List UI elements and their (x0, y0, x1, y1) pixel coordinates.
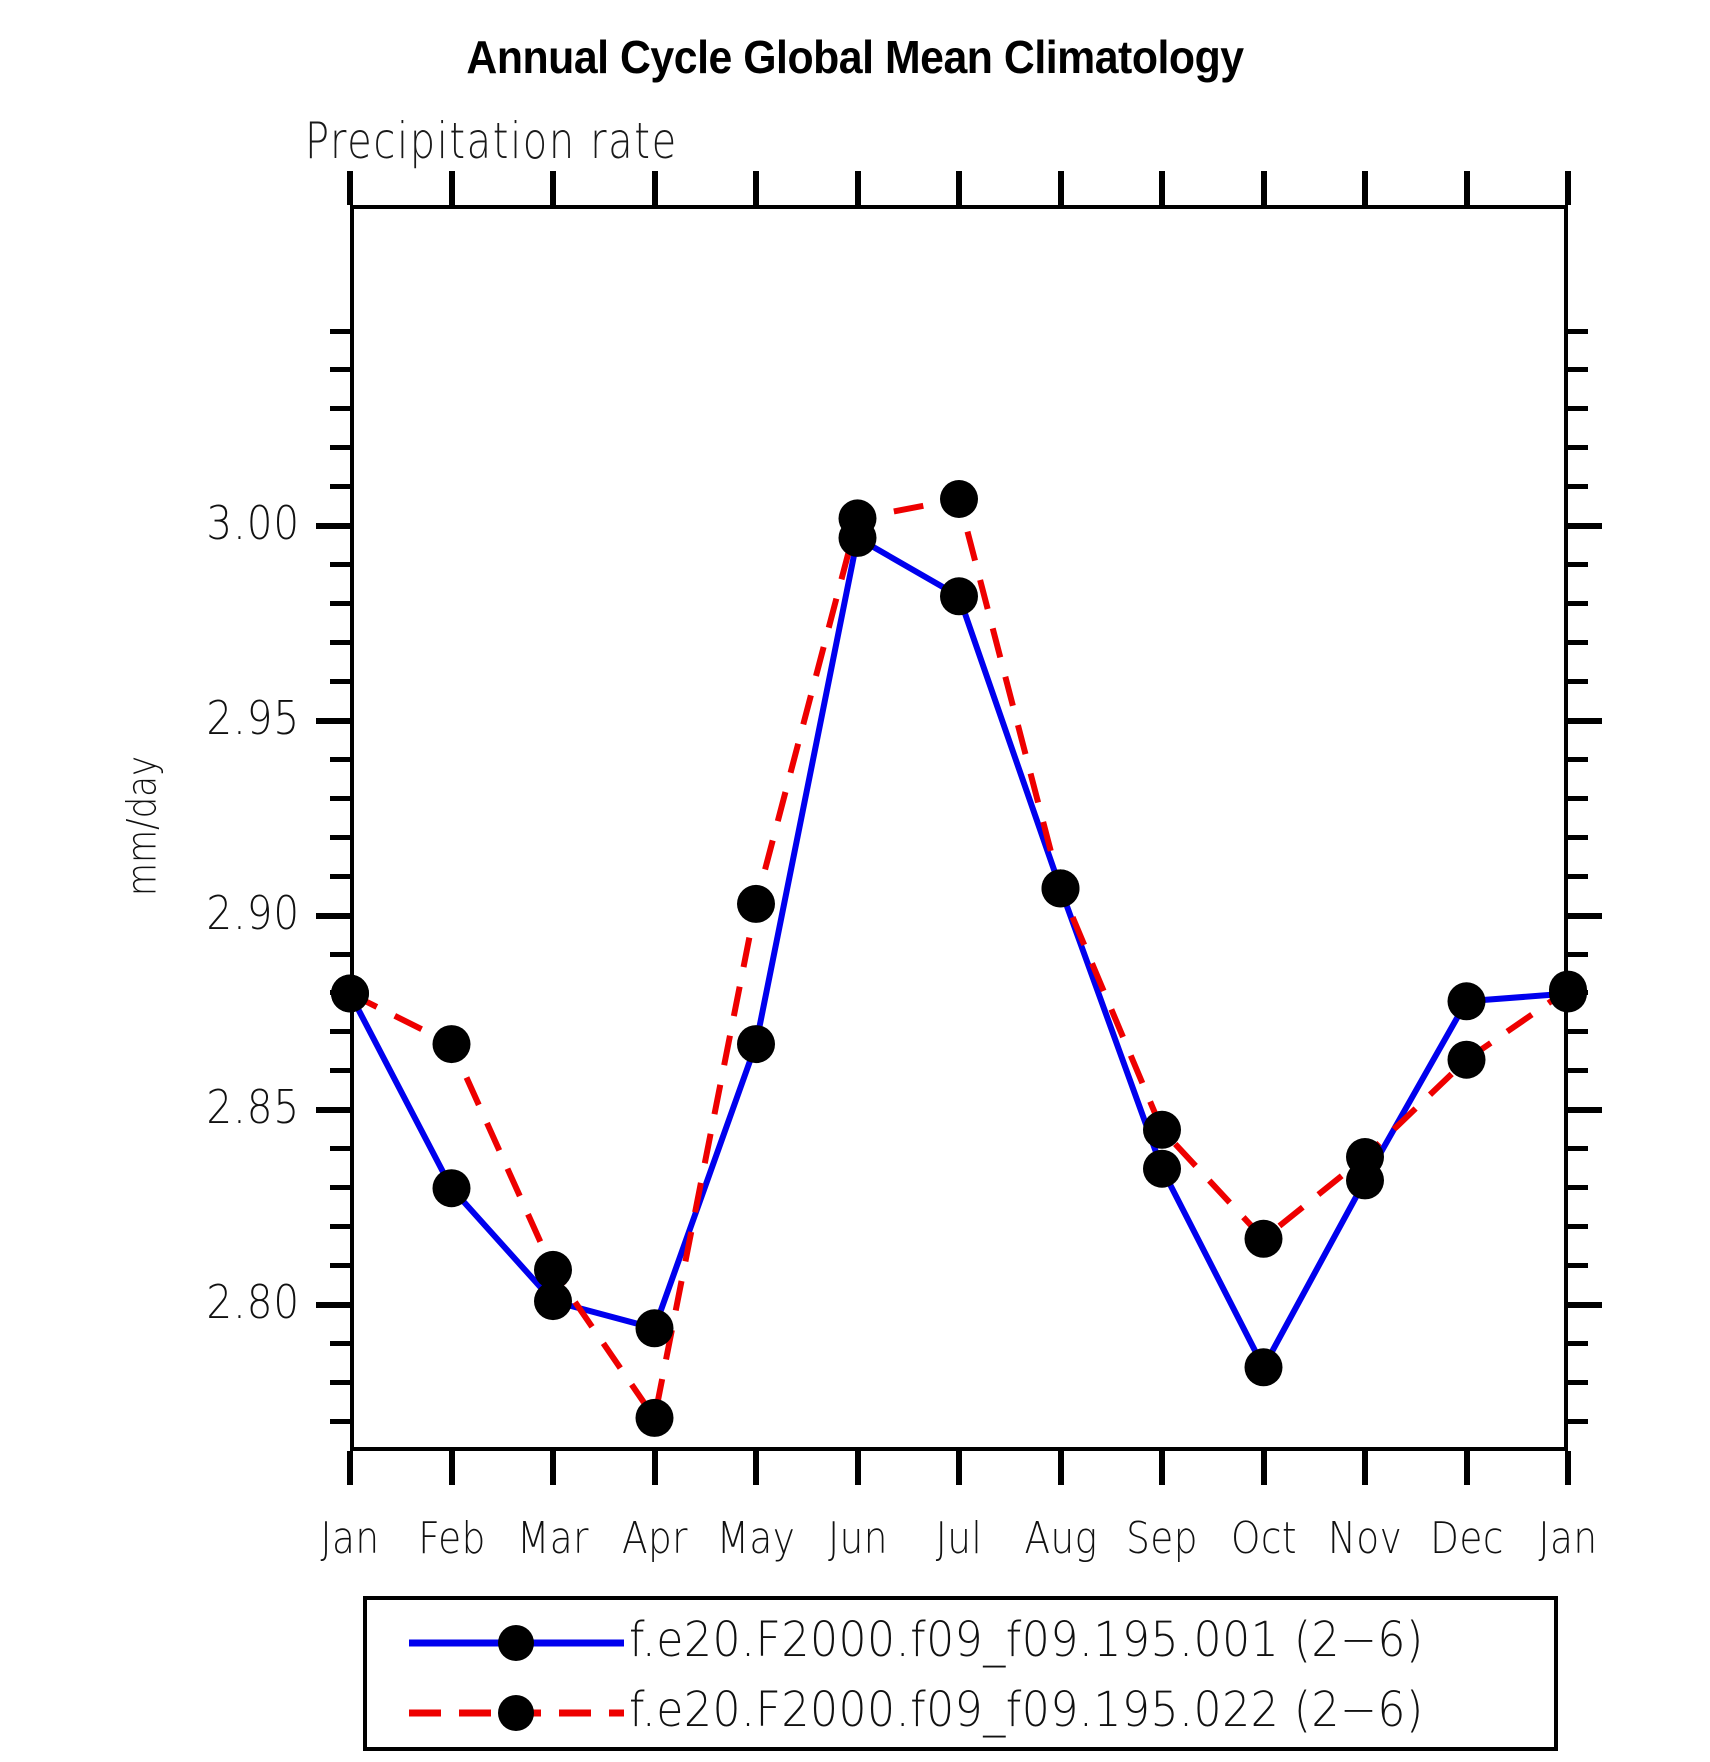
y-axis-minor-tick (330, 1380, 350, 1385)
y-axis-minor-tick (330, 601, 350, 606)
y-axis-minor-tick-right (1568, 952, 1588, 957)
x-axis-major-tick (1565, 1451, 1571, 1485)
x-axis-major-tick-top (1261, 171, 1267, 205)
y-axis-minor-tick (330, 1224, 350, 1229)
x-axis-major-tick-top (956, 171, 962, 205)
y-axis-major-tick-right (1568, 523, 1602, 529)
x-axis-major-tick (753, 1451, 759, 1485)
y-axis-minor-tick (330, 1185, 350, 1190)
y-axis-minor-tick-right (1568, 1068, 1588, 1073)
chart-page: Annual Cycle Global Mean Climatology Pre… (0, 0, 1710, 1762)
y-axis-major-tick (316, 1302, 350, 1308)
x-axis-tick-label: Jan (1500, 1513, 1636, 1564)
y-axis-minor-tick (330, 1068, 350, 1073)
x-axis-major-tick (1362, 1451, 1368, 1485)
y-axis-minor-tick-right (1568, 1146, 1588, 1151)
y-axis-minor-tick (330, 1341, 350, 1346)
y-axis-minor-tick (330, 406, 350, 411)
y-axis-major-tick-right (1568, 913, 1602, 919)
legend-row[interactable]: f.e20.F2000.f09_f09.195.022 (2−6) (367, 1678, 1562, 1748)
plot-area (350, 205, 1568, 1451)
y-axis-minor-tick (330, 329, 350, 334)
legend-line-sample-series-2 (409, 1678, 624, 1748)
y-axis-tick-label: 2.85 (124, 1080, 300, 1134)
x-axis-major-tick-top (1058, 171, 1064, 205)
y-axis-minor-tick (330, 1029, 350, 1034)
legend-label-series-1: f.e20.F2000.f09_f09.195.001 (2−6) (629, 1612, 1424, 1668)
x-axis-major-tick (855, 1451, 861, 1485)
y-axis-minor-tick (330, 757, 350, 762)
y-axis-minor-tick-right (1568, 990, 1588, 995)
y-axis-title: mm/day (119, 756, 165, 896)
y-axis-minor-tick (330, 990, 350, 995)
y-axis-minor-tick-right (1568, 406, 1588, 411)
x-axis-major-tick (550, 1451, 556, 1485)
legend-line-sample-series-1 (409, 1608, 624, 1678)
chart-legend: f.e20.F2000.f09_f09.195.001 (2−6) f.e20.… (363, 1596, 1558, 1751)
y-axis-minor-tick (330, 952, 350, 957)
y-axis-tick-label: 3.00 (124, 496, 300, 550)
y-axis-major-tick (316, 1107, 350, 1113)
y-axis-tick-label: 2.95 (124, 691, 300, 745)
y-axis-minor-tick-right (1568, 1419, 1588, 1424)
y-axis-minor-tick (330, 445, 350, 450)
y-axis-minor-tick (330, 874, 350, 879)
legend-label-series-2: f.e20.F2000.f09_f09.195.022 (2−6) (629, 1682, 1424, 1738)
y-axis-minor-tick-right (1568, 601, 1588, 606)
y-axis-minor-tick-right (1568, 757, 1588, 762)
x-axis-major-tick (1159, 1451, 1165, 1485)
y-axis-major-tick (316, 523, 350, 529)
y-axis-minor-tick-right (1568, 1029, 1588, 1034)
y-axis-minor-tick-right (1568, 329, 1588, 334)
x-axis-major-tick-top (550, 171, 556, 205)
y-axis-minor-tick (330, 367, 350, 372)
y-axis-minor-tick-right (1568, 1185, 1588, 1190)
y-axis-minor-tick (330, 1263, 350, 1268)
chart-subtitle: Precipitation rate (305, 112, 678, 170)
y-axis-minor-tick-right (1568, 445, 1588, 450)
x-axis-major-tick (956, 1451, 962, 1485)
x-axis-major-tick (652, 1451, 658, 1485)
y-axis-minor-tick-right (1568, 1224, 1588, 1229)
y-axis-minor-tick-right (1568, 484, 1588, 489)
y-axis-major-tick (316, 718, 350, 724)
y-axis-minor-tick-right (1568, 796, 1588, 801)
y-axis-minor-tick-right (1568, 367, 1588, 372)
y-axis-major-tick (316, 913, 350, 919)
x-axis-major-tick-top (1159, 171, 1165, 205)
x-axis-major-tick (1058, 1451, 1064, 1485)
y-axis-minor-tick-right (1568, 1380, 1588, 1385)
y-axis-minor-tick (330, 1419, 350, 1424)
y-axis-minor-tick (330, 484, 350, 489)
x-axis-major-tick-top (347, 171, 353, 205)
y-axis-minor-tick-right (1568, 835, 1588, 840)
y-axis-minor-tick-right (1568, 640, 1588, 645)
x-axis-major-tick-top (449, 171, 455, 205)
y-axis-minor-tick-right (1568, 1263, 1588, 1268)
x-axis-major-tick (1464, 1451, 1470, 1485)
x-axis-major-tick-top (1464, 171, 1470, 205)
y-axis-tick-label: 2.80 (124, 1275, 300, 1329)
y-axis-minor-tick (330, 562, 350, 567)
y-axis-minor-tick (330, 640, 350, 645)
x-axis-major-tick-top (753, 171, 759, 205)
y-axis-minor-tick-right (1568, 874, 1588, 879)
x-axis-major-tick-top (1565, 171, 1571, 205)
y-axis-minor-tick-right (1568, 1341, 1588, 1346)
x-axis-major-tick (1261, 1451, 1267, 1485)
x-axis-major-tick (449, 1451, 455, 1485)
x-axis-major-tick-top (652, 171, 658, 205)
y-axis-minor-tick-right (1568, 679, 1588, 684)
y-axis-minor-tick-right (1568, 562, 1588, 567)
y-axis-minor-tick (330, 835, 350, 840)
y-axis-minor-tick (330, 796, 350, 801)
x-axis-major-tick (347, 1451, 353, 1485)
y-axis-minor-tick (330, 1146, 350, 1151)
y-axis-minor-tick (330, 679, 350, 684)
y-axis-major-tick-right (1568, 718, 1602, 724)
x-axis-major-tick-top (855, 171, 861, 205)
x-axis-major-tick-top (1362, 171, 1368, 205)
chart-title: Annual Cycle Global Mean Climatology (60, 30, 1650, 84)
y-axis-major-tick-right (1568, 1302, 1602, 1308)
legend-row[interactable]: f.e20.F2000.f09_f09.195.001 (2−6) (367, 1608, 1562, 1678)
y-axis-major-tick-right (1568, 1107, 1602, 1113)
